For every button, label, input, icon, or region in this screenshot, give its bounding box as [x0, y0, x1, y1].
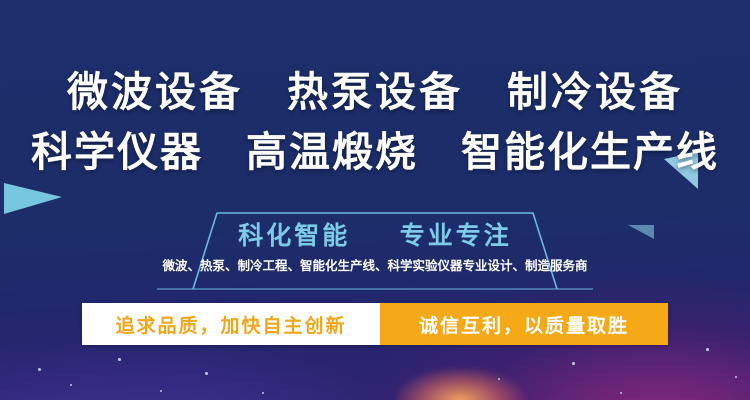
sparkle-dot [572, 362, 575, 365]
warm-glow-blob [395, 368, 525, 400]
ribbon-left-half: 追求品质，加快自主创新 [82, 303, 380, 345]
sparkle-dot [735, 376, 737, 378]
headline-line-2: 科学仪器 高温煅烧 智能化生产线 [0, 122, 750, 182]
slogan-trapezoid: 科化智能 专业专注 微波、热泵、制冷工程、智能化生产线、科学实验仪器专业设计、制… [155, 208, 595, 290]
sparkle-dot [70, 384, 72, 386]
sparkle-dot [620, 392, 622, 394]
sparkle-dot [38, 368, 41, 371]
slogan-main-line: 科化智能 专业专注 [155, 216, 595, 252]
sparkle-dot [160, 390, 162, 392]
sparkle-dot [262, 392, 264, 394]
sparkle-dot [498, 378, 500, 380]
slogan-main-left: 科化智能 [238, 221, 350, 250]
slogan-subtitle: 微波、热泵、制冷工程、智能化生产线、科学实验仪器专业设计、制造服务商 [155, 255, 595, 274]
headline-line-1: 微波设备 热泵设备 制冷设备 [0, 62, 750, 122]
left-arrow-triangle-icon [4, 183, 62, 214]
bottom-slogan-ribbon: 追求品质，加快自主创新 诚信互利，以质量取胜 [82, 303, 668, 345]
slogan-main-right: 专业专注 [400, 221, 512, 250]
headline-block: 微波设备 热泵设备 制冷设备 科学仪器 高温煅烧 智能化生产线 [0, 62, 750, 182]
ribbon-right-half: 诚信互利，以质量取胜 [380, 303, 668, 345]
promotional-banner: 微波设备 热泵设备 制冷设备 科学仪器 高温煅烧 智能化生产线 科化智能 专业专… [0, 0, 750, 400]
sparkle-dot [205, 372, 208, 375]
sparkle-dot [706, 348, 709, 351]
sparkle-dot [118, 358, 121, 361]
right-small-triangle-icon [628, 225, 654, 239]
